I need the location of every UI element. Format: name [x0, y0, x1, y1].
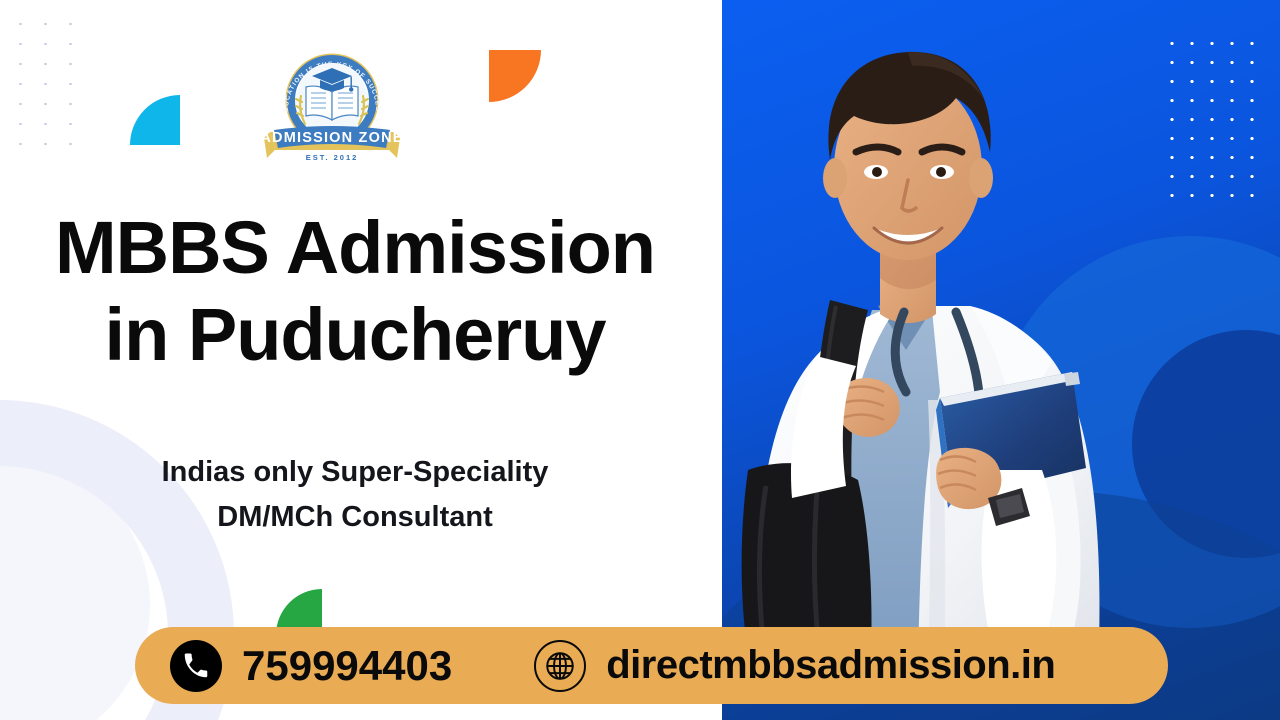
dot-grid-right-decoration	[1162, 34, 1258, 200]
logo-established-text: EST. 2012	[306, 153, 359, 162]
admission-zone-logo: EDUCATION IS THE KEY OF SUCCESS	[258, 38, 406, 166]
student-illustration	[640, 0, 1140, 676]
contact-bar: 759994403 directmbbsadmission.in	[135, 627, 1168, 704]
logo-ribbon-text: ADMISSION ZONE	[260, 130, 403, 146]
website-url: directmbbsadmission.in	[606, 643, 1055, 688]
website-contact[interactable]: directmbbsadmission.in	[534, 640, 1055, 692]
orange-quarter-circle-decoration	[489, 50, 541, 102]
cyan-quarter-circle-decoration	[130, 95, 180, 145]
phone-contact[interactable]: 759994403	[170, 640, 452, 692]
promo-banner: EDUCATION IS THE KEY OF SUCCESS	[0, 0, 1280, 720]
headline-line-2: in Puducheruy	[0, 292, 710, 379]
phone-number: 759994403	[242, 642, 452, 690]
subtitle-line-1: Indias only Super-Speciality	[0, 450, 710, 495]
phone-icon	[170, 640, 222, 692]
headline-line-1: MBBS Admission	[0, 205, 710, 292]
dot-grid-left-decoration	[8, 14, 86, 154]
subtitle-line-2: DM/MCh Consultant	[0, 495, 710, 540]
headline: MBBS Admission in Puducheruy	[0, 205, 710, 378]
subtitle: Indias only Super-Speciality DM/MCh Cons…	[0, 450, 710, 540]
globe-icon	[534, 640, 586, 692]
student-photo	[640, 0, 1140, 676]
left-content-panel: EDUCATION IS THE KEY OF SUCCESS	[0, 0, 722, 720]
logo-svg: EDUCATION IS THE KEY OF SUCCESS	[258, 38, 406, 166]
